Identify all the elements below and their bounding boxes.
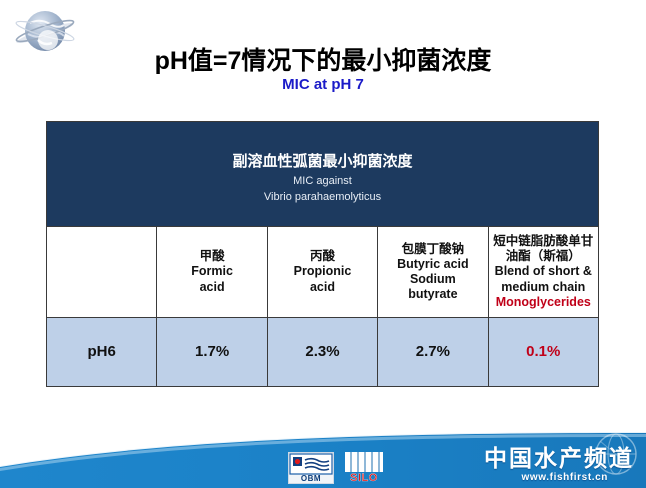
row-label-ph6: pH6	[47, 318, 157, 387]
table-banner: 副溶血性弧菌最小抑菌浓度 MIC against Vibrio parahaem…	[47, 122, 599, 227]
table-header-row: 甲酸 Formicacid 丙酸 Propionicacid 包膜丁酸钠 But…	[47, 227, 599, 318]
brand-url: www.fishfirst.cn	[484, 472, 608, 483]
table-banner-row: 副溶血性弧菌最小抑菌浓度 MIC against Vibrio parahaem…	[47, 122, 599, 227]
column-header-sodium-butyrate-cn: 包膜丁酸钠	[381, 242, 484, 257]
column-header-monoglycerides-en: Blend of short & medium chain	[495, 264, 592, 293]
silo-logo-label: SILO	[342, 472, 386, 484]
silo-logo-icon: SILO	[342, 452, 386, 484]
column-header-formic-acid: 甲酸 Formicacid	[157, 227, 267, 318]
mic-table: 副溶血性弧菌最小抑菌浓度 MIC against Vibrio parahaem…	[46, 121, 599, 387]
column-header-formic-acid-en: Formicacid	[191, 264, 233, 293]
column-header-propionic-acid-en: Propionicacid	[294, 264, 352, 293]
cell-propionic-acid: 2.3%	[267, 318, 377, 387]
column-header-sodium-butyrate: 包膜丁酸钠 Butyric acidSodiumbutyrate	[378, 227, 488, 318]
brand-block: 中国水产频道 www.fishfirst.cn	[484, 447, 634, 483]
column-header-sodium-butyrate-en: Butyric acidSodiumbutyrate	[397, 257, 469, 302]
obm-logo-icon: OBM	[288, 452, 334, 484]
page-title: pH值=7情况下的最小抑菌浓度	[0, 48, 646, 74]
table-row: pH6 1.7% 2.3% 2.7% 0.1%	[47, 318, 599, 387]
column-header-blank	[47, 227, 157, 318]
column-header-formic-acid-cn: 甲酸	[160, 249, 263, 264]
banner-title-cn: 副溶血性弧菌最小抑菌浓度	[47, 152, 598, 172]
silo-logo-bars	[345, 452, 383, 472]
cell-sodium-butyrate: 2.7%	[378, 318, 488, 387]
banner-subtitle-line1: MIC against	[47, 174, 598, 190]
column-header-propionic-acid-cn: 丙酸	[271, 249, 374, 264]
column-header-monoglycerides-highlight: Monoglycerides	[496, 295, 591, 309]
footer-bar: OBM SILO 中国水产频道 www.fishfirst.cn	[0, 432, 646, 488]
slide-title-block: pH值=7情况下的最小抑菌浓度 MIC at pH 7	[0, 48, 646, 94]
banner-subtitle-line2: Vibrio parahaemolyticus	[47, 190, 598, 206]
column-header-propionic-acid: 丙酸 Propionicacid	[267, 227, 377, 318]
cell-formic-acid: 1.7%	[157, 318, 267, 387]
brand-name-cn: 中国水产频道	[484, 447, 634, 470]
column-header-monoglycerides: 短中链脂肪酸单甘油酯（斯福） Blend of short & medium c…	[488, 227, 598, 318]
obm-logo-label: OBM	[289, 474, 333, 483]
partner-logos: OBM SILO	[288, 450, 386, 484]
page-subtitle: MIC at pH 7	[0, 77, 646, 94]
cell-monoglycerides: 0.1%	[488, 318, 598, 387]
column-header-monoglycerides-cn: 短中链脂肪酸单甘油酯（斯福）	[492, 234, 595, 265]
